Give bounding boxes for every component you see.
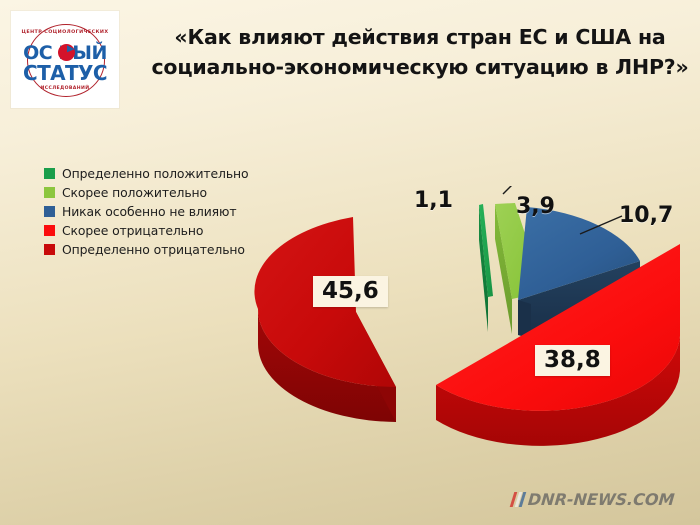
watermark-text: DNR-NEWS.COM: [527, 490, 675, 509]
legend-swatch-definitely-negative: [44, 244, 55, 255]
legend-swatch-definitely-positive: [44, 168, 55, 179]
legend-swatch-rather-negative: [44, 225, 55, 236]
page-title: «Как влияют действия стран ЕС и США на с…: [150, 22, 690, 82]
data-label-definitely-negative: 45,6: [313, 276, 388, 307]
logo-arc-bottom-text: ИССЛЕДОВАНИЙ: [11, 86, 119, 91]
data-label-no-effect: 10,7: [619, 203, 673, 228]
pie-slice-definitely-positive: [479, 204, 493, 332]
data-label-rather-negative: 38,8: [535, 345, 610, 376]
legend-item-rather-negative: Скорее отрицательно: [44, 221, 249, 239]
legend-item-no-effect: Никак особенно не влияют: [44, 202, 249, 220]
page-title-line-1: «Как влияют действия стран ЕС и США на: [150, 22, 690, 52]
legend-label-definitely-negative: Определенно отрицательно: [62, 242, 245, 257]
page-title-line-2: социально-экономическую ситуацию в ЛНР?»: [150, 52, 690, 82]
watermark-slashes-icon: [510, 492, 528, 507]
legend-label-rather-positive: Скорее положительно: [62, 185, 207, 200]
data-label-definitely-positive: 1,1: [414, 188, 453, 213]
legend-swatch-no-effect: [44, 206, 55, 217]
legend-label-no-effect: Никак особенно не влияют: [62, 204, 236, 219]
logo-pie-icon: [58, 44, 75, 61]
legend-label-definitely-positive: Определенно положительно: [62, 166, 249, 181]
watermark: DNR-NEWS.COM: [512, 490, 674, 509]
legend-item-definitely-positive: Определенно положительно: [44, 164, 249, 182]
logo-word-status: СТАТУС: [11, 61, 119, 85]
legend-item-definitely-negative: Определенно отрицательно: [44, 240, 249, 258]
pie-chart-3d: [250, 186, 680, 476]
legend-item-rather-positive: Скорее положительно: [44, 183, 249, 201]
logo-arc-top-text: ЦЕНТР СОЦИОЛОГИЧЕСКИХ: [8, 30, 121, 35]
infographic-canvas: ЦЕНТР СОЦИОЛОГИЧЕСКИХ ОС БЫЙ СТАТУС ИССЛ…: [0, 0, 700, 525]
pie-slice-definitely-negative: [254, 217, 396, 422]
leader-line-3-9: [503, 186, 517, 194]
organization-logo: ЦЕНТР СОЦИОЛОГИЧЕСКИХ ОС БЫЙ СТАТУС ИССЛ…: [11, 11, 119, 108]
data-label-rather-positive: 3,9: [516, 194, 555, 219]
legend-label-rather-negative: Скорее отрицательно: [62, 223, 203, 238]
legend-swatch-rather-positive: [44, 187, 55, 198]
chart-legend: Определенно положительно Скорее положите…: [44, 164, 249, 259]
